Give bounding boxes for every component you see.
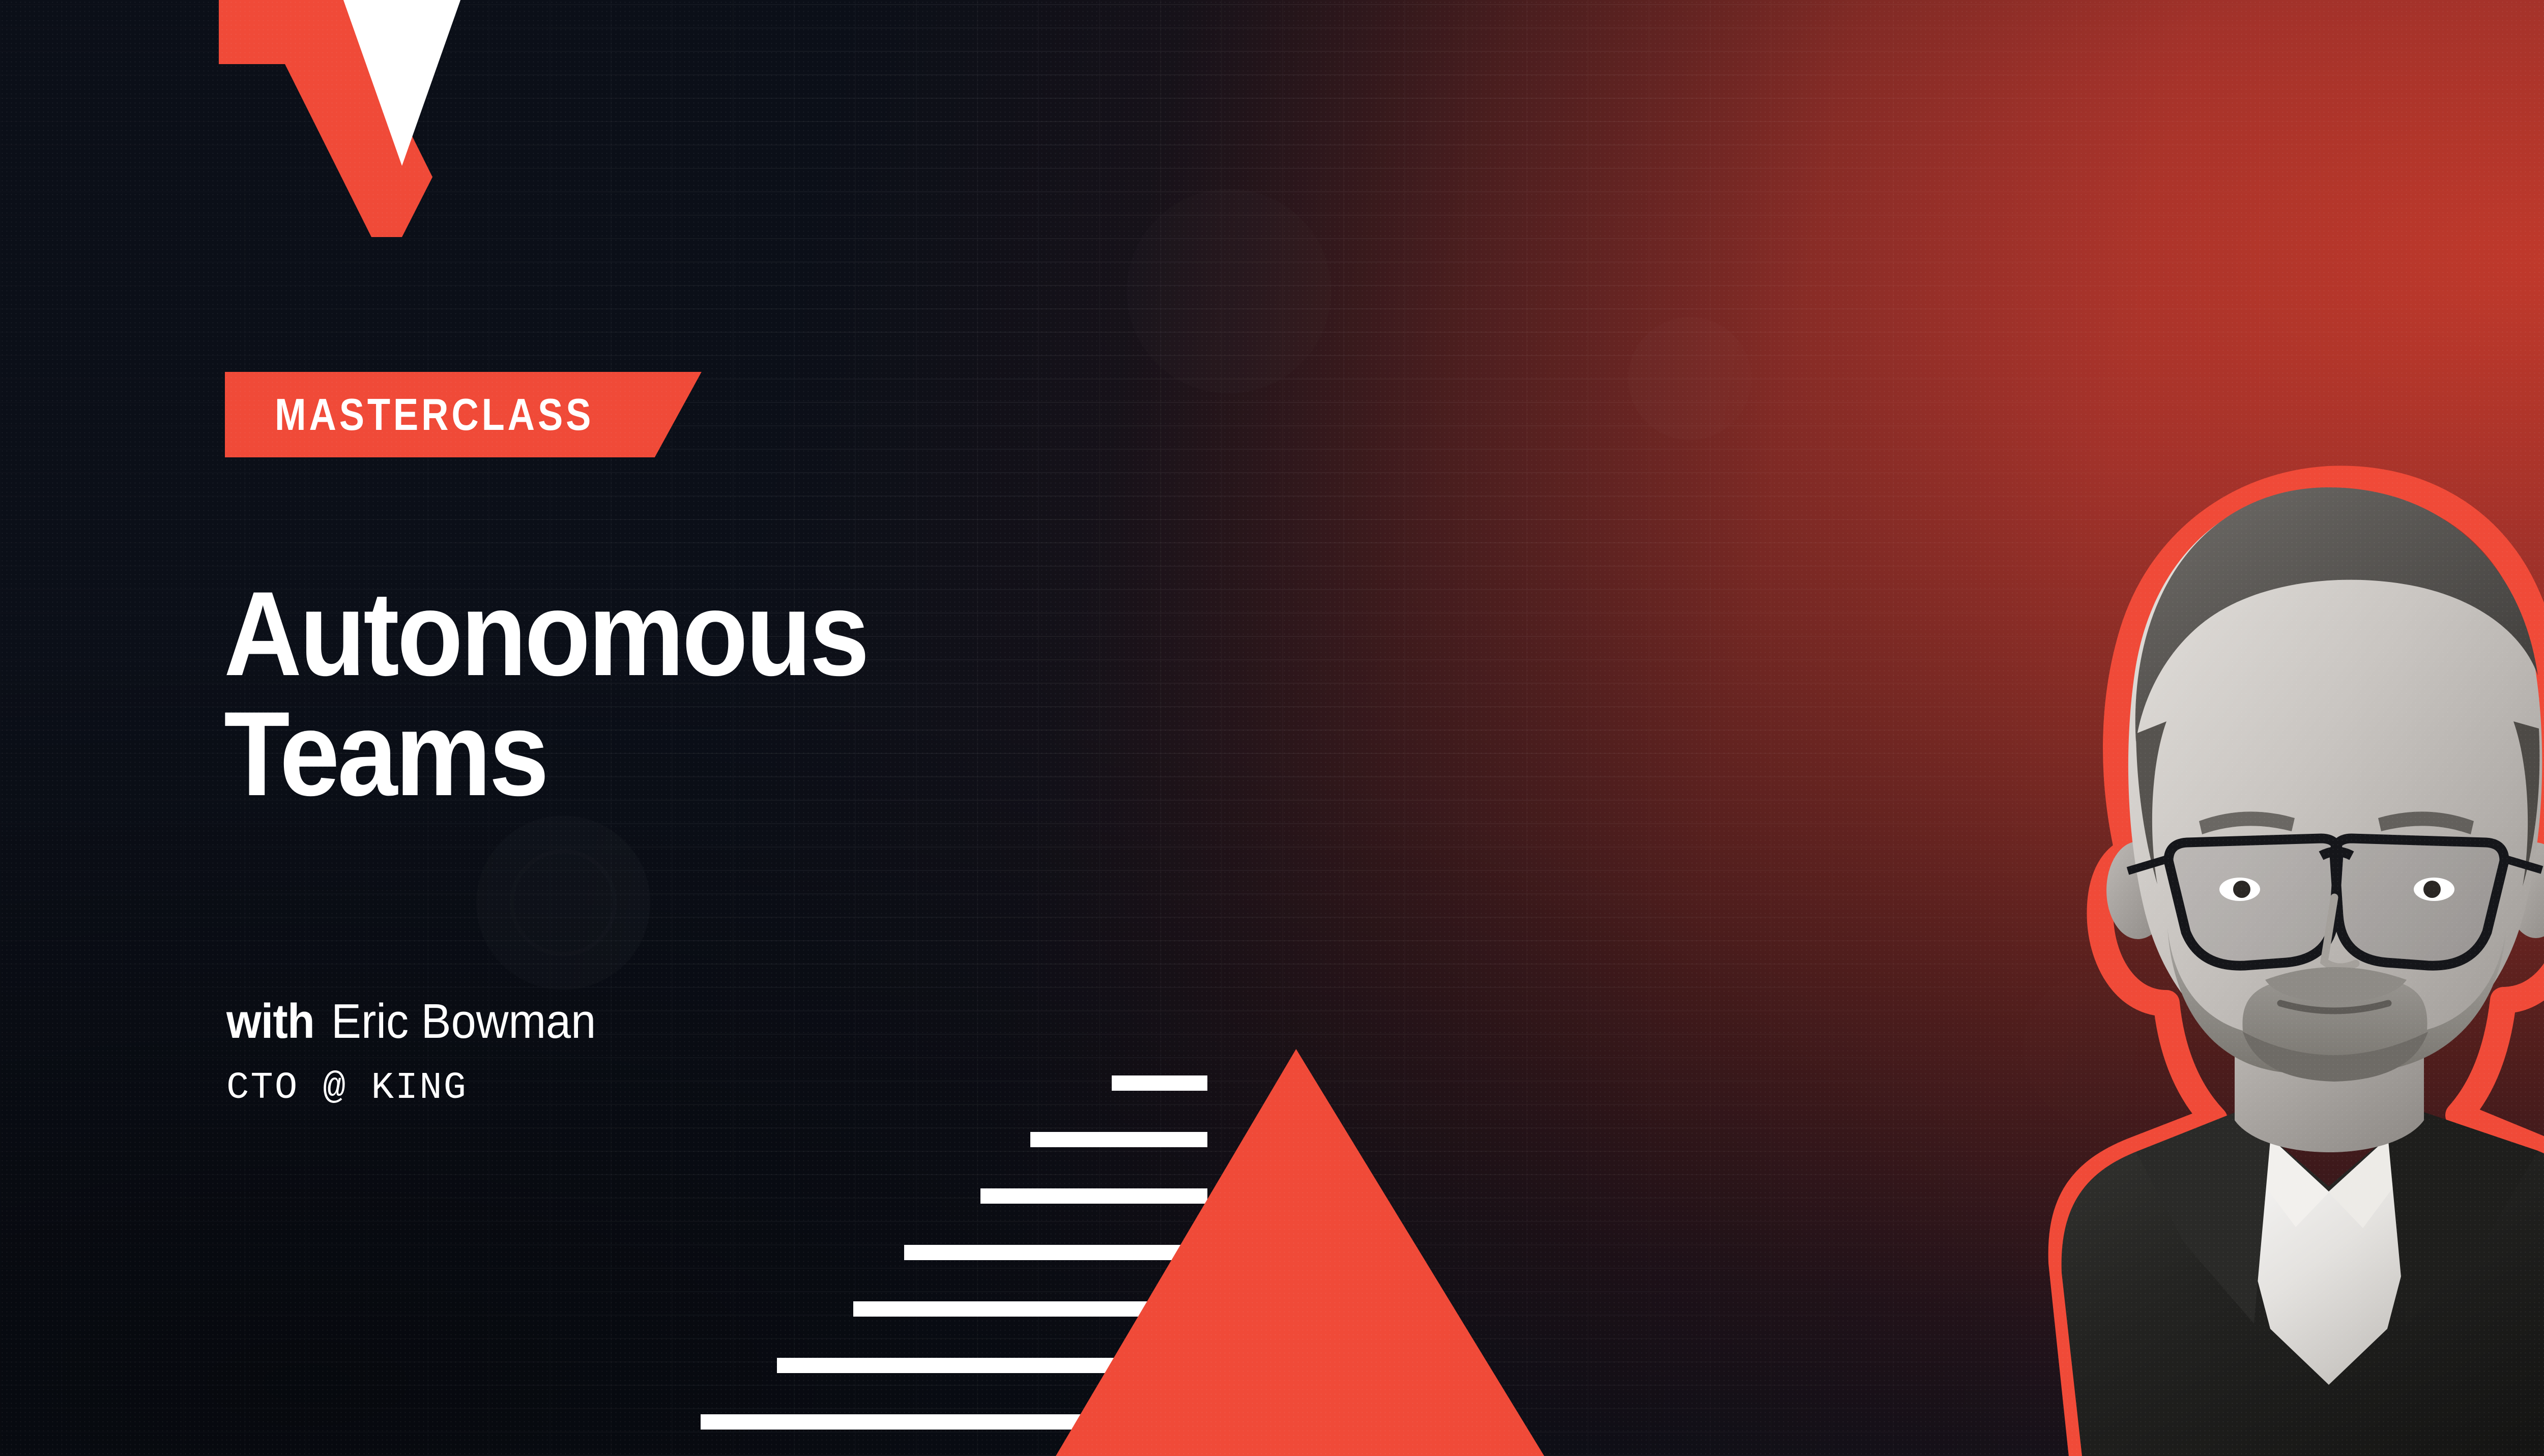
brand-v-mark <box>219 0 544 237</box>
stair-bar-1 <box>1112 1075 1207 1091</box>
page-title-line-1: Autonomous <box>224 574 1277 694</box>
presenter-name: Eric Bowman <box>331 996 596 1047</box>
portrait-pupil-right <box>2423 881 2441 898</box>
portrait-pupil-left <box>2233 881 2250 898</box>
masterclass-badge: MASTERCLASS <box>225 372 702 457</box>
stair-bar-3 <box>980 1188 1207 1204</box>
speaker-portrait <box>1726 276 2544 1456</box>
stair-bar-4 <box>904 1245 1207 1260</box>
page-title-line-2: Teams <box>224 694 1277 814</box>
stair-bar-2 <box>1030 1132 1207 1147</box>
masterclass-promo-poster: MASTERCLASS Autonomous Teams with Eric B… <box>0 0 2544 1456</box>
page-title: Autonomous Teams <box>224 574 1394 814</box>
presenter-name-row: with Eric Bowman <box>226 996 596 1047</box>
masterclass-badge-label: MASTERCLASS <box>275 392 594 437</box>
presenter-with-label: with <box>226 996 314 1047</box>
